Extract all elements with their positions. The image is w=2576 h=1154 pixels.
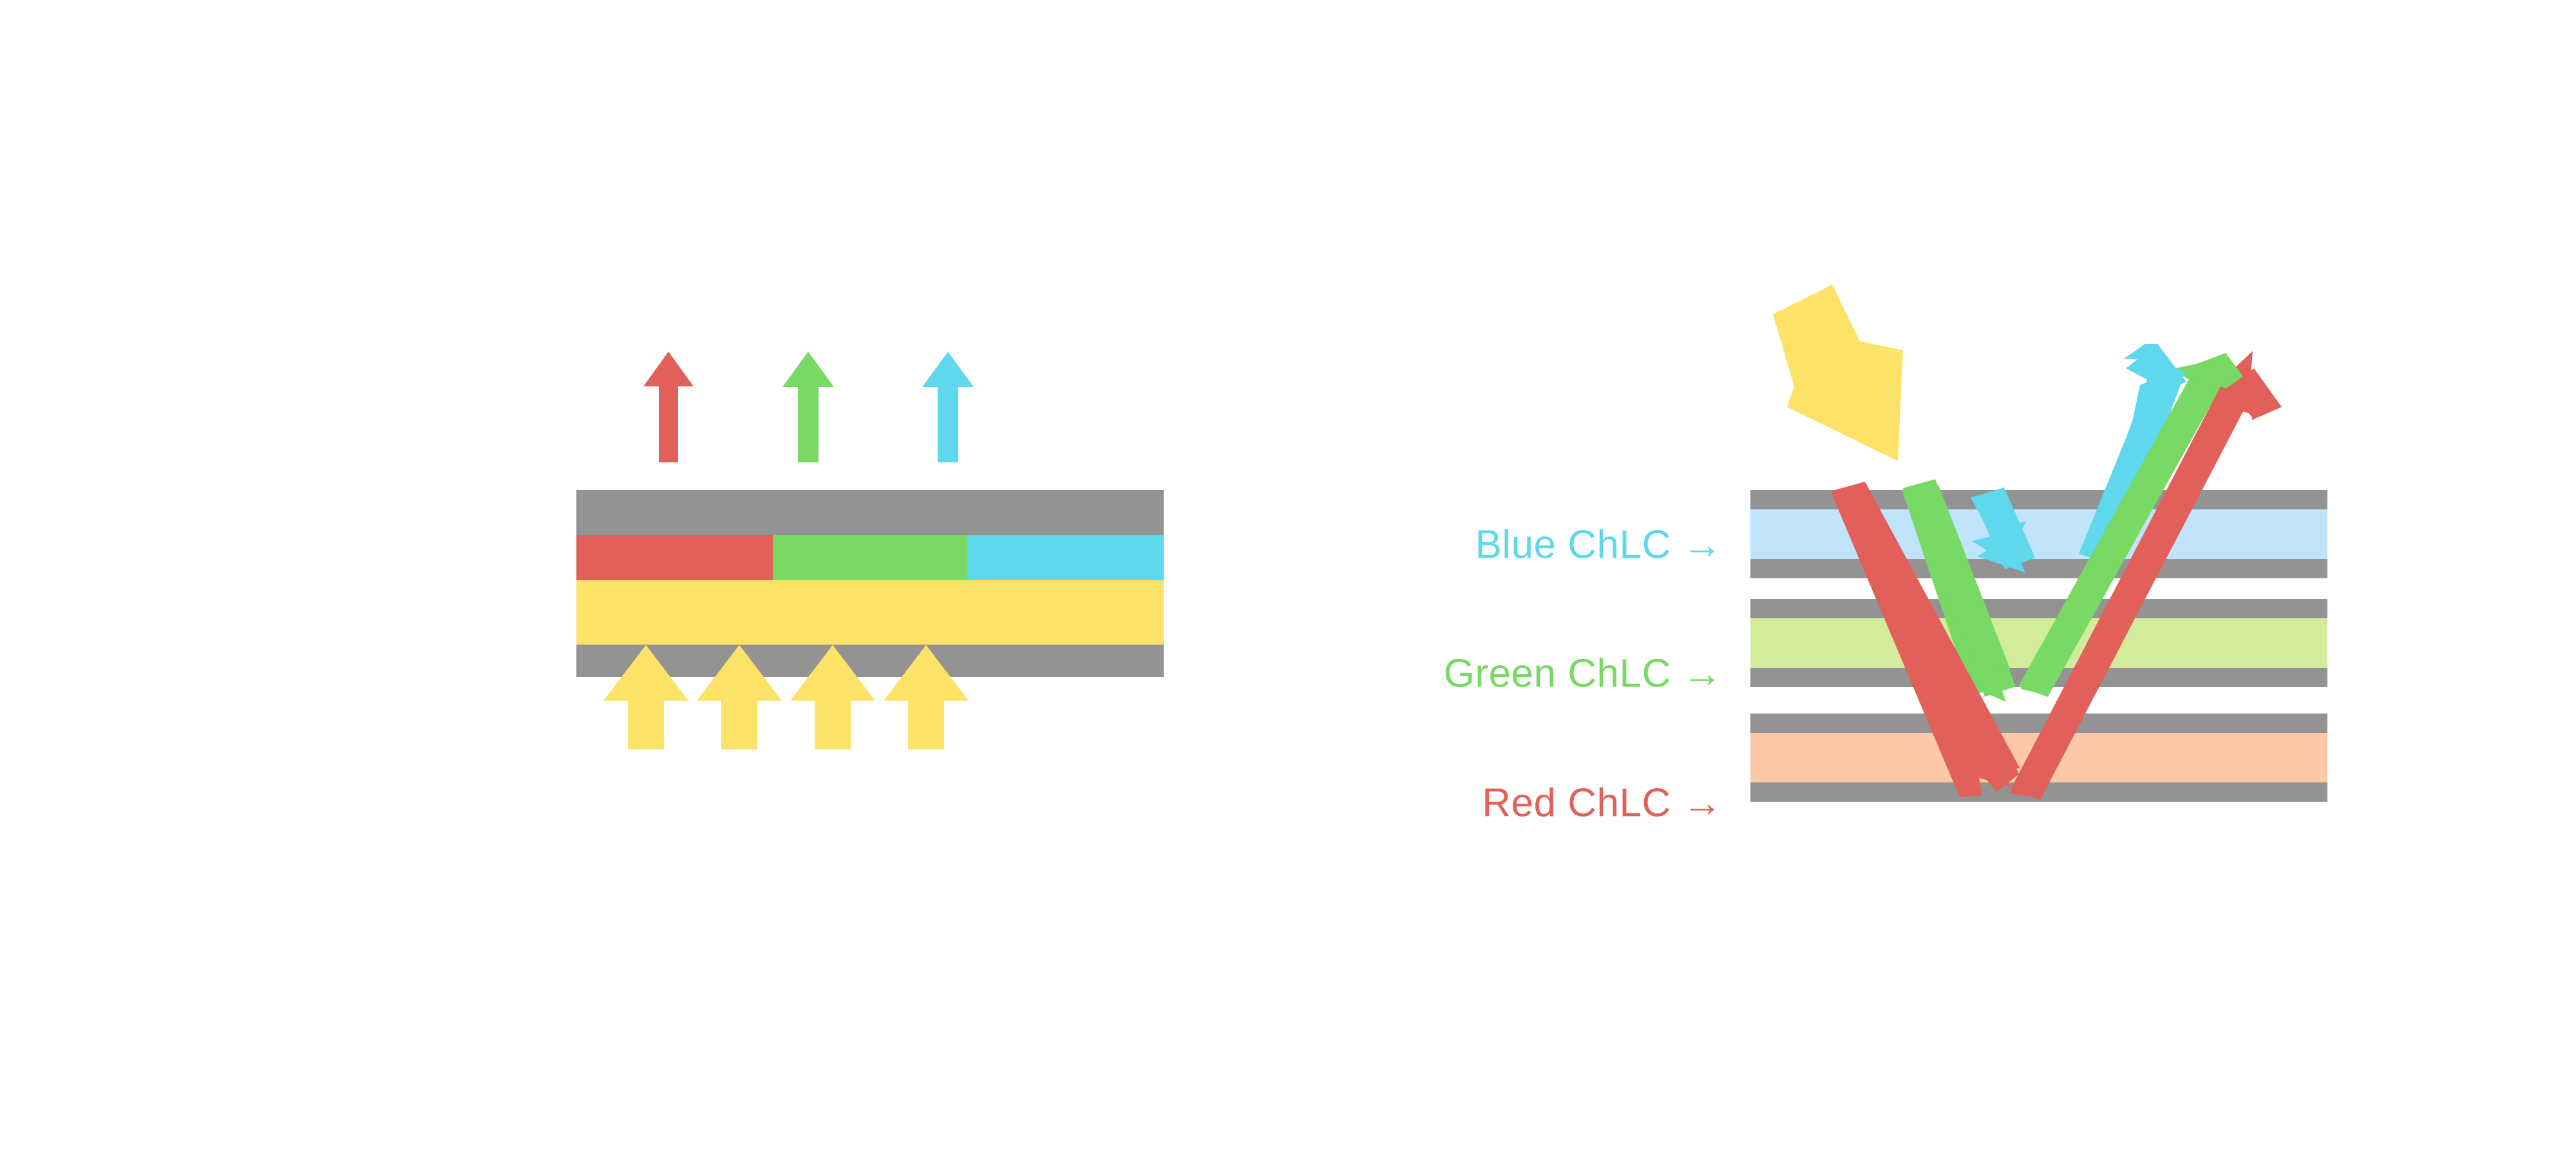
blue-chlc-fill: [1750, 509, 2327, 559]
blue-chlc-arrow-icon: →: [1683, 523, 1723, 567]
green-chlc-label-text: Green ChLC: [1444, 652, 1671, 696]
blue-cell-bottom-electrode: [1750, 559, 2327, 578]
green-cell-top-electrode: [1750, 599, 2327, 618]
red-chlc-label-text: Red ChLC: [1482, 781, 1671, 826]
red-chlc-label: Red ChLC →: [1482, 780, 1723, 826]
green-chlc-label: Green ChLC →: [1444, 651, 1723, 697]
right-panel-graphics: [0, 0, 2576, 1154]
blue-chlc-label-text: Blue ChLC: [1475, 523, 1671, 567]
right-panel: Blue ChLC → Green ChLC → Red ChLC →: [0, 0, 2576, 1154]
red-chlc-arrow-icon: →: [1683, 781, 1723, 826]
incident-white-light-arrow: [1773, 285, 1903, 461]
green-chlc-arrow-icon: →: [1683, 652, 1723, 696]
blue-chlc-label: Blue ChLC →: [1475, 522, 1723, 568]
red-reflected-ray-head2: [2252, 368, 2282, 420]
diagram-canvas: Blue ChLC → Green ChLC → Red ChLC →: [0, 0, 2576, 1154]
red-cell-top-electrode: [1750, 714, 2327, 733]
